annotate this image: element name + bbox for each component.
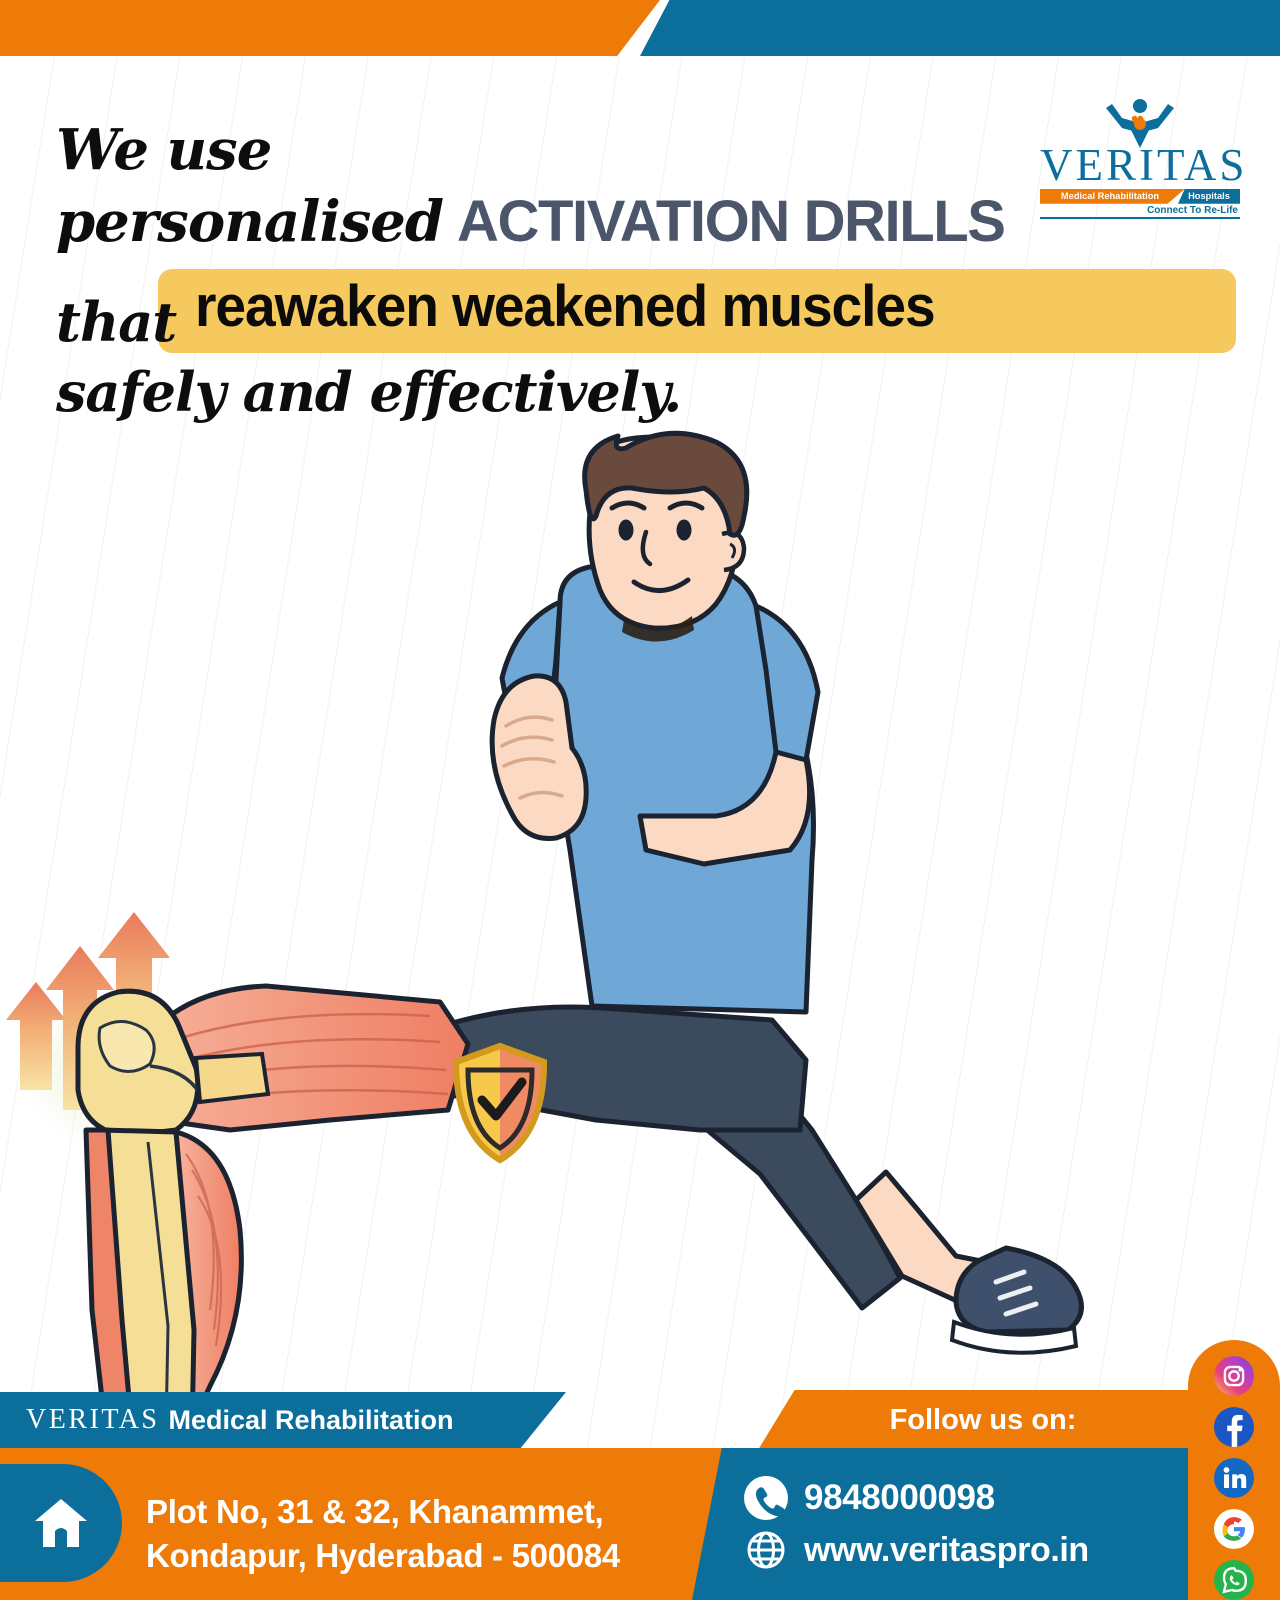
google-icon[interactable] bbox=[1213, 1509, 1255, 1549]
veritas-person-heart-icon bbox=[1040, 98, 1240, 150]
shield-check-icon bbox=[456, 1046, 544, 1160]
home-icon bbox=[0, 1464, 122, 1582]
logo-wordmark: VERITAS bbox=[1040, 144, 1240, 187]
headline-line-4: safely and effectively. bbox=[56, 361, 1236, 423]
footer-brand-band: VERITAS Medical Rehabilitation bbox=[0, 1392, 566, 1448]
lunge-anatomy-illustration bbox=[0, 430, 1120, 1400]
veritas-logo: VERITAS Medical Rehabilitation Hospitals… bbox=[1040, 98, 1240, 219]
headline-line-2-script: personalised bbox=[56, 189, 443, 255]
address-block: Plot No, 31 & 32, Khanammet, Kondapur, H… bbox=[146, 1490, 620, 1578]
footer: VERITAS Medical Rehabilitation Follow us… bbox=[0, 1370, 1280, 1600]
headline-line-3-script: that bbox=[56, 276, 176, 368]
logo-bar-medical-rehabilitation: Medical Rehabilitation bbox=[1040, 189, 1185, 204]
follow-us-band: Follow us on: bbox=[758, 1390, 1188, 1450]
top-banner-blue bbox=[640, 0, 1280, 56]
address-line-1: Plot No, 31 & 32, Khanammet, bbox=[146, 1490, 620, 1534]
contact-panel: 9848000098 www.veritaspro.in bbox=[692, 1448, 1188, 1600]
top-banner bbox=[0, 0, 1280, 56]
linkedin-icon[interactable] bbox=[1213, 1458, 1255, 1498]
footer-brand-veritas: VERITAS bbox=[26, 1404, 159, 1436]
top-banner-orange bbox=[0, 0, 660, 56]
address-line-2: Kondapur, Hyderabad - 500084 bbox=[146, 1534, 620, 1578]
website-url: www.veritaspro.in bbox=[804, 1531, 1089, 1570]
logo-bar-hospitals: Hospitals bbox=[1178, 189, 1240, 204]
headline-line-3-bold: reawaken weakened muscles bbox=[195, 261, 935, 353]
phone-icon bbox=[744, 1476, 788, 1520]
phone-number: 9848000098 bbox=[804, 1478, 995, 1518]
footer-brand-medical-rehabilitation: Medical Rehabilitation bbox=[168, 1405, 453, 1436]
globe-icon bbox=[744, 1528, 788, 1572]
follow-us-label: Follow us on: bbox=[870, 1404, 1077, 1437]
website-row[interactable]: www.veritaspro.in bbox=[744, 1528, 1188, 1572]
instagram-icon[interactable] bbox=[1213, 1356, 1255, 1396]
headline-line-3: that reawaken weakened muscles bbox=[56, 261, 1236, 353]
social-links bbox=[1188, 1340, 1280, 1600]
logo-rule bbox=[1040, 217, 1240, 219]
phone-row[interactable]: 9848000098 bbox=[744, 1476, 1188, 1520]
logo-tagline: Connect To Re-Life bbox=[1040, 205, 1240, 216]
facebook-icon[interactable] bbox=[1213, 1407, 1255, 1447]
whatsapp-icon[interactable] bbox=[1213, 1560, 1255, 1600]
headline-line-2-bold: ACTIVATION DRILLS bbox=[457, 188, 1005, 255]
